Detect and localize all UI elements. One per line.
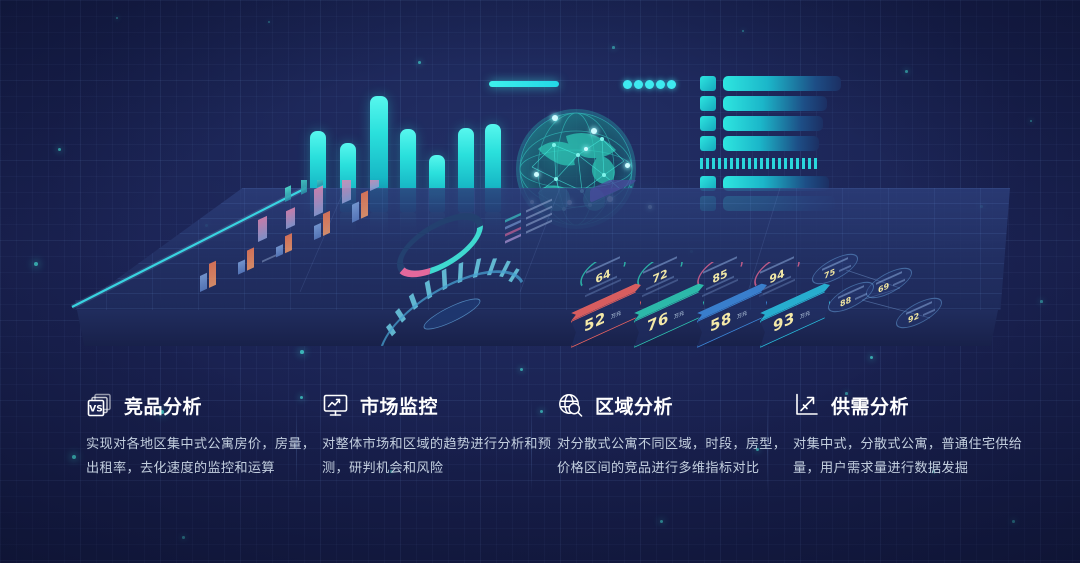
feature-card-row: VS 竞品分析 实现对各地区集中式公寓房价，房量，出租率，去化速度的监控和运算 … (0, 370, 1080, 563)
feature-divider-2 (531, 398, 532, 494)
feature-title-4: 供需分析 (831, 392, 909, 419)
feature-divider-3 (767, 398, 768, 494)
gauge-2: 72 (634, 262, 686, 294)
vs-compare-icon: VS (86, 392, 113, 419)
feature-header-2: 市场监控 (322, 388, 554, 422)
feature-title-2: 市场监控 (360, 392, 438, 419)
feature-desc-3: 对分散式公寓不同区域，时段，房型，价格区间的竞品进行多维指标对比 (557, 433, 789, 481)
svg-text:VS: VS (89, 404, 102, 414)
feature-divider-1 (296, 398, 297, 494)
feature-header-4: 供需分析 (793, 388, 1025, 422)
feature-card-2[interactable]: 市场监控 对整体市场和区域的趋势进行分析和预测，研判机会和风险 (322, 388, 554, 481)
feature-header-3: 区域分析 (557, 388, 789, 422)
feature-title-3: 区域分析 (595, 392, 673, 419)
feature-desc-4: 对集中式，分散式公寓，普通住宅供给量，用户需求量进行数据发掘 (793, 433, 1025, 481)
feature-card-4[interactable]: 供需分析 对集中式，分散式公寓，普通住宅供给量，用户需求量进行数据发掘 (793, 388, 1025, 481)
feature-card-1[interactable]: VS 竞品分析 实现对各地区集中式公寓房价，房量，出租率，去化速度的监控和运算 (86, 388, 318, 481)
feature-desc-2: 对整体市场和区域的趋势进行分析和预测，研判机会和风险 (322, 433, 554, 481)
monitor-chart-icon (322, 392, 349, 419)
feature-title-1: 竞品分析 (124, 392, 202, 419)
feature-desc-1: 实现对各地区集中式公寓房价，房量，出租率，去化速度的监控和运算 (86, 433, 318, 481)
feature-card-3[interactable]: 区域分析 对分散式公寓不同区域，时段，房型，价格区间的竞品进行多维指标对比 (557, 388, 789, 481)
axis-trend-icon (793, 392, 820, 419)
feature-header-1: VS 竞品分析 (86, 388, 318, 422)
data-platform-illustration: 64 72 85 (0, 0, 1080, 370)
globe-search-icon (557, 392, 584, 419)
